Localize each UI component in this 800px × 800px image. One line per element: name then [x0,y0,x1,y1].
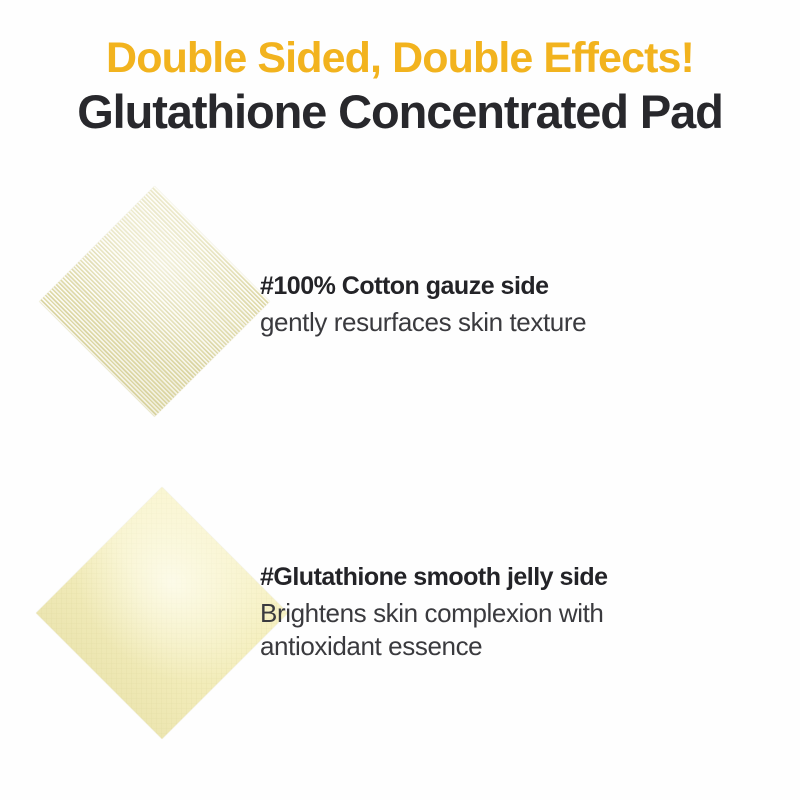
feature-description-line: antioxidant essence [260,631,608,662]
headline-tagline: Double Sided, Double Effects! [0,36,800,82]
cotton-gauze-pad-image [39,186,270,417]
feature-title: #Glutathione smooth jelly side [260,563,608,592]
page-title: Double Sided, Double Effects! Glutathion… [0,36,800,136]
feature-description-line: Brightens skin complexion with [260,598,608,629]
glutathione-jelly-pad-image [36,487,288,739]
headline-product-name: Glutathione Concentrated Pad [0,87,800,137]
jelly-edge-shading [36,487,288,739]
feature-description-line: gently resurfaces skin texture [260,307,586,338]
gauze-sheen-overlay [39,186,270,417]
product-feature-graphic: Double Sided, Double Effects! Glutathion… [0,0,800,800]
feature-glutathione-jelly: #Glutathione smooth jelly side Brightens… [260,563,608,662]
feature-title: #100% Cotton gauze side [260,272,586,301]
feature-cotton-gauze: #100% Cotton gauze side gently resurface… [260,272,586,338]
